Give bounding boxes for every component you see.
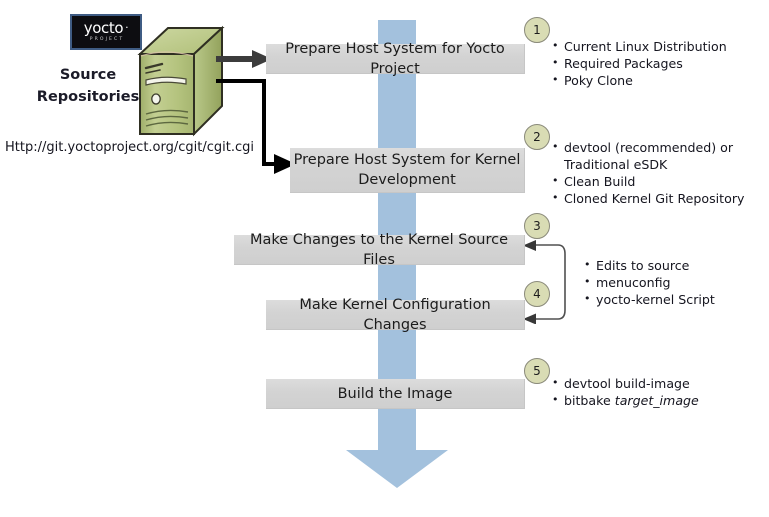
list-item: devtool (recommended) or Traditional eSD…	[552, 139, 760, 173]
diagram-canvas: yocto· PROJECT Source Repositories Http:…	[0, 0, 769, 517]
step-badge-4-number: 4	[533, 287, 541, 301]
step-badge-1-number: 1	[533, 23, 541, 37]
logo-subtext: PROJECT	[90, 38, 125, 43]
list-item: Poky Clone	[552, 72, 757, 89]
source-label-line-1: Source	[28, 64, 148, 86]
step-badge-3-number: 3	[533, 219, 541, 233]
step-badge-2: 2	[524, 124, 550, 150]
list-item: yocto-kernel Script	[584, 291, 759, 308]
process-box-step4[interactable]: Make Kernel Configuration Changes	[266, 300, 525, 330]
logo-word-text: yocto	[84, 19, 123, 37]
process-box-step4-label: Make Kernel Configuration Changes	[266, 295, 524, 335]
step-badge-1: 1	[524, 17, 550, 43]
bitbake-command-prefix: bitbake	[564, 393, 615, 408]
workflow-down-arrow-icon	[344, 428, 450, 490]
list-item: Edits to source	[584, 257, 759, 274]
list-item: devtool build-image	[552, 375, 757, 392]
process-box-step1-label: Prepare Host System for Yocto Project	[266, 39, 524, 79]
process-box-step3-label: Make Changes to the Kernel Source Files	[234, 230, 524, 270]
logo-dot: ·	[125, 21, 128, 34]
bullets-step5: devtool build-image bitbake target_image	[552, 375, 757, 409]
connector-loop-step3-step4	[518, 240, 578, 324]
bitbake-target-placeholder: target_image	[615, 393, 699, 408]
step-badge-4: 4	[524, 281, 550, 307]
process-box-step2-label: Prepare Host System for Kernel Developme…	[290, 150, 524, 190]
bullets-step2: devtool (recommended) or Traditional eSD…	[552, 139, 760, 207]
process-box-step1[interactable]: Prepare Host System for Yocto Project	[266, 44, 525, 74]
list-item: Clean Build	[552, 173, 760, 190]
source-label-line-2: Repositories	[28, 86, 148, 108]
process-box-step2[interactable]: Prepare Host System for Kernel Developme…	[290, 148, 525, 193]
connector-server-to-step2	[216, 78, 298, 178]
list-item: bitbake target_image	[552, 392, 757, 409]
source-repositories-label: Source Repositories	[28, 64, 148, 108]
list-item: Cloned Kernel Git Repository	[552, 190, 760, 207]
bullets-step1: Current Linux Distribution Required Pack…	[552, 38, 757, 89]
step-badge-3: 3	[524, 213, 550, 239]
step-badge-5-number: 5	[533, 364, 541, 378]
logo-wordmark: yocto·	[84, 21, 128, 36]
process-box-step3[interactable]: Make Changes to the Kernel Source Files	[234, 235, 525, 265]
step-badge-2-number: 2	[533, 130, 541, 144]
server-tower-icon	[132, 22, 228, 140]
list-item: Required Packages	[552, 55, 757, 72]
step-badge-5: 5	[524, 358, 550, 384]
list-item: menuconfig	[584, 274, 759, 291]
process-box-step5-label: Build the Image	[338, 384, 453, 404]
bullets-step3-step4: Edits to source menuconfig yocto-kernel …	[584, 257, 759, 308]
list-item: Current Linux Distribution	[552, 38, 757, 55]
process-box-step5[interactable]: Build the Image	[266, 379, 525, 409]
